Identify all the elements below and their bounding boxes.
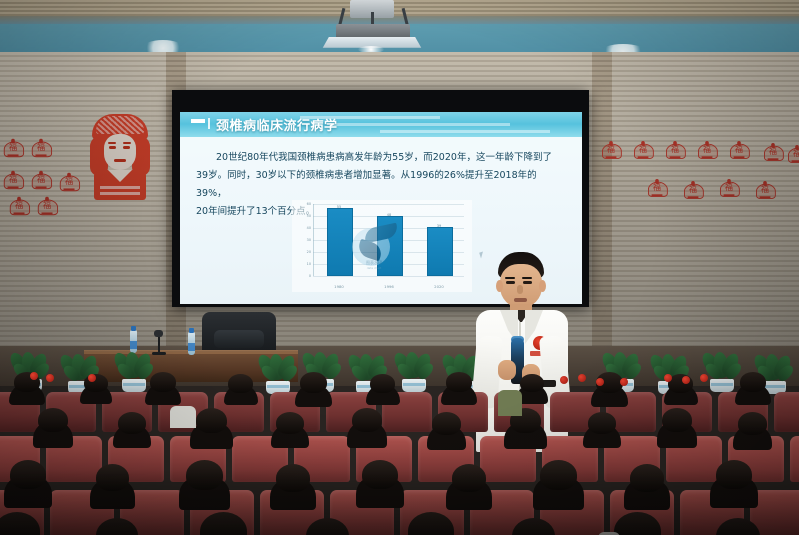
audience-head [738, 412, 767, 435]
red-flower-arrangement [46, 374, 54, 382]
slide-title-number [191, 119, 205, 123]
audience-head [432, 412, 461, 435]
auditorium-seat [774, 392, 799, 432]
audience-head [228, 374, 253, 393]
slide-title-separator [208, 118, 210, 129]
audience-head [540, 460, 577, 490]
chart-bar-value-label: 39 [427, 224, 451, 228]
audience-head [452, 464, 486, 492]
desk-microphone-head [154, 330, 163, 337]
red-flower-arrangement [560, 376, 568, 384]
audience-head [276, 412, 304, 434]
office-chair-seat [214, 330, 264, 348]
audience-shirt [498, 390, 522, 416]
red-flower-arrangement [88, 374, 96, 382]
audience-head [362, 460, 398, 489]
audience-head [630, 464, 664, 492]
red-flower-arrangement [30, 372, 38, 380]
chart-gridline [313, 276, 464, 277]
water-bottle [188, 332, 195, 355]
audience-head [196, 408, 227, 433]
red-flower-arrangement [682, 376, 690, 384]
audience-head [150, 372, 176, 392]
audience-head [118, 412, 146, 434]
chart-y-tick: 50 [294, 214, 311, 218]
red-flower-arrangement [578, 374, 586, 382]
chart-watermark-subtext: data chart [348, 266, 400, 270]
chart-category-label: 1996 [377, 284, 401, 289]
chart-watermark: 图表水印 data chart [348, 222, 400, 268]
audience-head [96, 464, 129, 491]
audience-head [662, 408, 692, 432]
audience-head [186, 460, 223, 490]
audience-head [300, 372, 327, 393]
audience-shirt [170, 406, 196, 428]
red-flower-arrangement [700, 374, 708, 382]
audience-head [38, 408, 68, 432]
audience-head [276, 464, 310, 492]
red-flower-arrangement [596, 378, 604, 386]
chart-y-tick: 20 [294, 250, 311, 254]
chart-bar-value-label: 55 [327, 205, 351, 209]
chart-y-tick: 0 [294, 274, 311, 278]
chart-category-label: 2020 [427, 284, 451, 289]
chart-y-tick: 40 [294, 226, 311, 230]
chart-bar [427, 227, 453, 276]
chart-y-tick: 10 [294, 262, 311, 266]
audience-head [10, 460, 46, 489]
audience-head [716, 460, 752, 489]
red-flower-arrangement [664, 374, 672, 382]
auditorium-seat [790, 436, 799, 482]
seated-audience [0, 372, 799, 535]
audience-head [740, 372, 766, 392]
slide-body-line-1: 20世纪80年代我国颈椎病患病高发年龄为55岁，而2020年，这一年龄下降到了 [196, 149, 566, 167]
chart-y-tick: 30 [294, 238, 311, 242]
audience-head [370, 374, 395, 393]
slide-title-band: 颈椎病临床流行病学 [180, 112, 582, 137]
chart-y-tick: 60 [294, 202, 311, 206]
red-flower-arrangement [620, 378, 628, 386]
audience-head [446, 372, 472, 392]
chart-bar-value-label: 48 [377, 213, 401, 217]
ceiling-projector [318, 0, 428, 52]
lecture-hall-scene: 福福福福福福福 福福福福福福福福福福福 颈椎病临床流行病学 20世纪80年代我国… [0, 0, 799, 535]
audience-head [520, 374, 544, 392]
slide-bar-chart: 6050403020100 554839 198019962020 图表水印 d… [292, 200, 472, 292]
chart-category-label: 1980 [327, 284, 351, 289]
slide-body-line-2: 39岁。同时，30岁以下的颈椎病患者增加显著。从1996的26%提升至2018年… [196, 167, 566, 203]
audience-head [352, 408, 382, 432]
audience-head [588, 412, 616, 434]
slide-title: 颈椎病临床流行病学 [216, 115, 338, 134]
